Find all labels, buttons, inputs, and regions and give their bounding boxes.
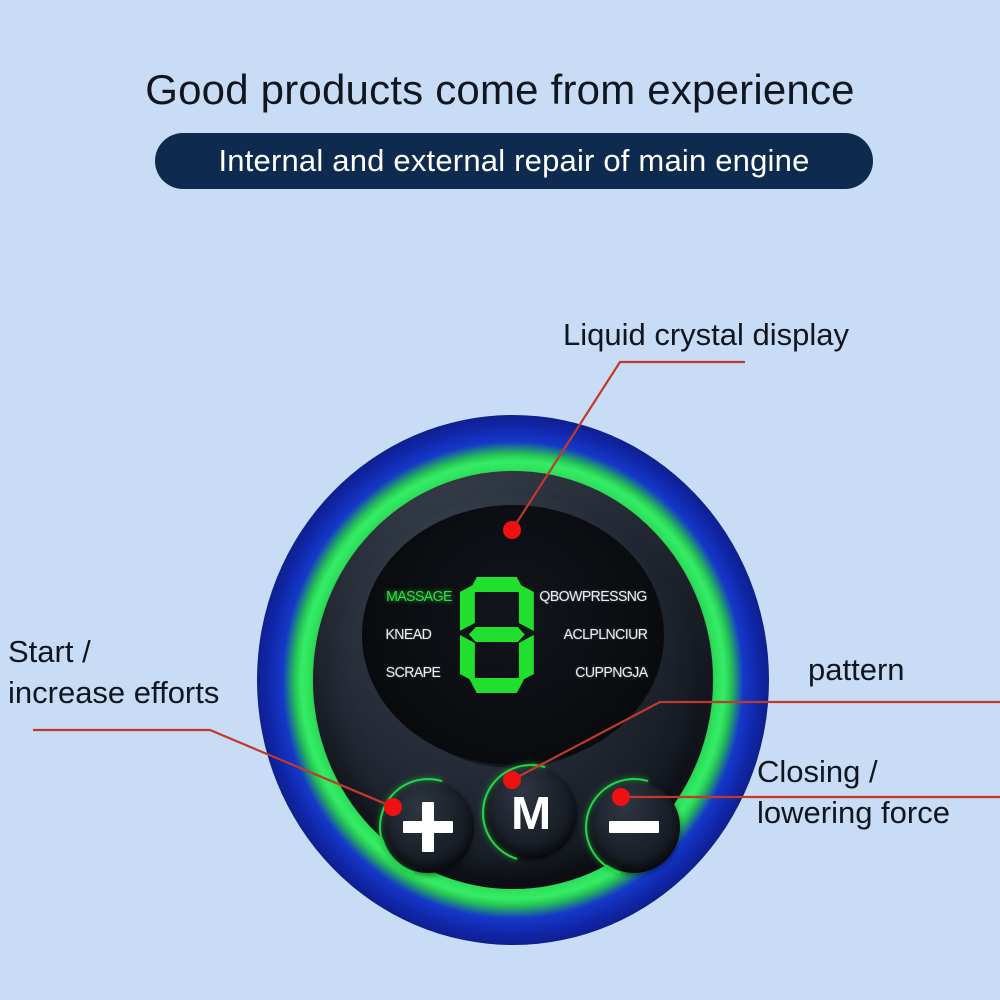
lcd-label-scrape: SCRAPE [386,664,441,681]
page-title: Good products come from experience [0,66,1000,114]
decrease-button[interactable] [588,781,680,873]
lcd-label-knead: KNEAD [385,626,431,643]
lcd-label-acupuncture: ACLPLNCIUR [564,626,648,643]
mode-button[interactable]: M [485,767,577,859]
lcd-label-massage: MASSAGE [386,588,452,605]
minus-icon [609,802,659,852]
plus-icon [403,802,453,852]
segment-b [519,584,534,631]
subtitle-banner-label: Internal and external repair of main eng… [218,143,809,179]
callout-closing: Closing / lowering force [757,752,950,834]
segment-a [469,577,525,592]
segment-e [460,635,475,682]
massager-device: MASSAGE KNEAD SCRAPE QBOWPRESSNG ACLPLNC… [257,415,769,945]
lcd-right-labels: QBOWPRESSNG ACLPLNCIUR CUPPNGJA [536,588,656,681]
segment-g [469,627,525,642]
lcd-label-elbow-pressing: QBOWPRESSNG [539,588,646,605]
subtitle-banner: Internal and external repair of main eng… [155,133,873,189]
lcd-seven-segment-digit [460,577,534,693]
callout-lcd: Liquid crystal display [563,315,849,356]
lcd-display: MASSAGE KNEAD SCRAPE QBOWPRESSNG ACLPLNC… [362,505,664,765]
callout-start-line2: increase efforts [8,673,219,714]
callout-start-line1: Start / [8,632,219,673]
segment-d [469,678,525,693]
segment-f [460,584,475,631]
callout-closing-line1: Closing / [757,752,950,793]
callout-closing-line2: lowering force [757,793,950,834]
callout-lcd-line1: Liquid crystal display [563,315,849,356]
lcd-left-labels: MASSAGE KNEAD SCRAPE [370,588,458,681]
callout-pattern-line1: pattern [808,650,905,691]
infographic-canvas: Good products come from experience Inter… [0,0,1000,1000]
segment-c [519,635,534,682]
mode-button-label: M [511,790,551,836]
increase-button[interactable] [382,781,474,873]
lcd-label-cupping: CUPPNGJA [575,664,647,681]
lcd-grid: MASSAGE KNEAD SCRAPE QBOWPRESSNG ACLPLNC… [362,505,664,765]
callout-pattern: pattern [808,650,905,691]
callout-start: Start / increase efforts [8,632,219,714]
